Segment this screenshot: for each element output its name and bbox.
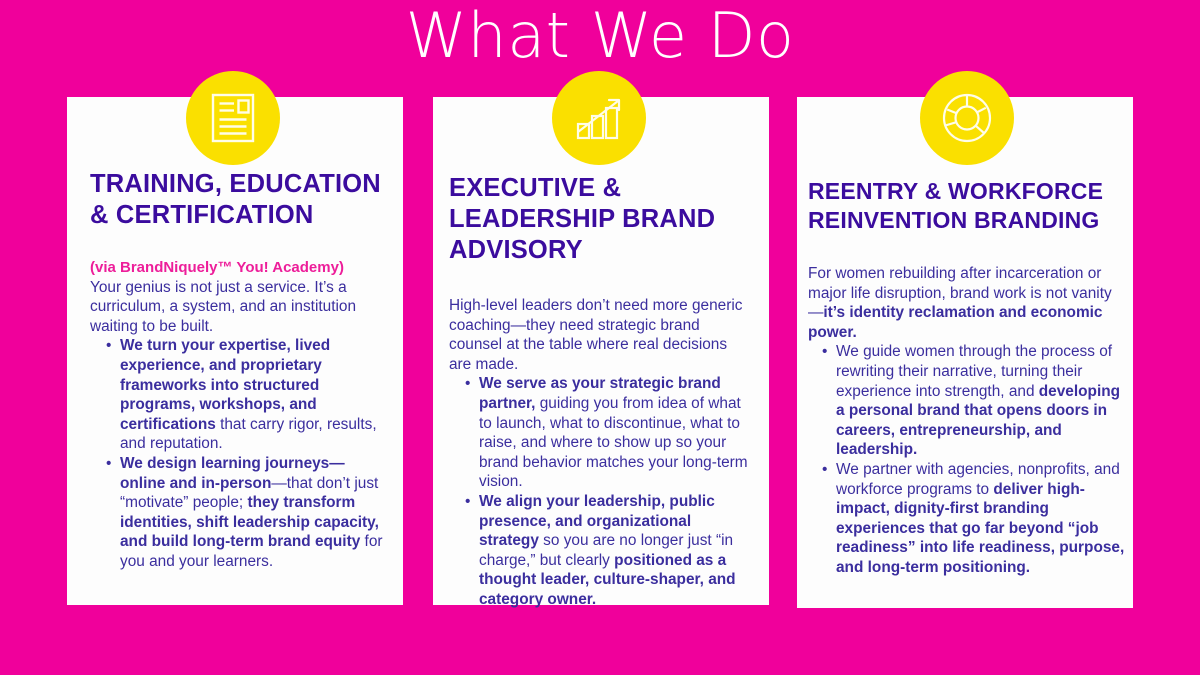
card-bullet-list-2: We serve as your strategic brand partner… bbox=[449, 374, 749, 609]
service-card-executive: EXECUTIVE & LEADERSHIP BRAND ADVISORY Hi… bbox=[433, 97, 769, 605]
card-subtitle-1: (via BrandNiquely™ You! Academy) bbox=[90, 258, 383, 278]
list-item: We turn your expertise, lived experience… bbox=[106, 336, 383, 454]
list-item: We partner with agencies, nonprofits, an… bbox=[822, 460, 1125, 578]
badge-circle-2 bbox=[552, 71, 646, 165]
card-intro-2: High-level leaders don’t need more gener… bbox=[449, 296, 749, 374]
donut-chart-icon bbox=[940, 91, 994, 145]
card-body-1: (via BrandNiquely™ You! Academy) Your ge… bbox=[90, 231, 383, 572]
document-certificate-icon bbox=[210, 92, 256, 144]
list-item: We serve as your strategic brand partner… bbox=[465, 374, 749, 492]
card-body-3: For women rebuilding after incarceration… bbox=[808, 235, 1125, 578]
badge-circle-3 bbox=[920, 71, 1014, 165]
card-intro-1: Your genius is not just a service. It’s … bbox=[90, 278, 383, 337]
list-item: We design learning journeys—online and i… bbox=[106, 454, 383, 572]
slide-canvas: What We Do TRAINING, EDUCATION & CERTIFI… bbox=[0, 0, 1200, 675]
card-bullet-list-3: We guide women through the process of re… bbox=[808, 342, 1125, 577]
list-item: We guide women through the process of re… bbox=[822, 342, 1125, 460]
card-body-2: High-level leaders don’t need more gener… bbox=[449, 266, 749, 610]
bar-chart-growth-icon bbox=[574, 94, 624, 142]
service-card-reentry: REENTRY & WORKFORCE REINVENTION BRANDING… bbox=[797, 97, 1133, 608]
service-card-training: TRAINING, EDUCATION & CERTIFICATION (via… bbox=[67, 97, 403, 605]
page-title: What We Do bbox=[0, 2, 1200, 70]
card-intro-3: For women rebuilding after incarceration… bbox=[808, 264, 1125, 342]
badge-circle-1 bbox=[186, 71, 280, 165]
card-bullet-list-1: We turn your expertise, lived experience… bbox=[90, 336, 383, 571]
list-item: We align your leadership, public presenc… bbox=[465, 492, 749, 610]
